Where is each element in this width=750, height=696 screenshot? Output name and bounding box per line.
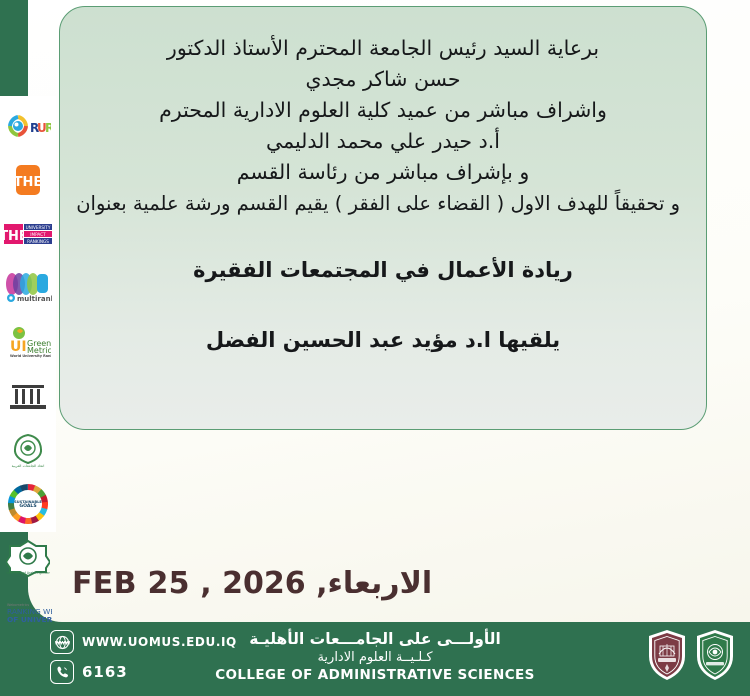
university-crest-green-icon — [694, 628, 736, 686]
svg-text:R: R — [45, 121, 51, 135]
the-university-impact-rankings-logo: THE UNIVERSITY IMPACT RANKINGS — [4, 208, 52, 260]
svg-text:Federation of Arab Engineers: Federation of Arab Engineers — [6, 571, 50, 575]
event-date: الاربعاء, 2026 , FEB 25 — [72, 566, 432, 601]
accreditation-logo-rail: R U R THE THE UNIVERSITY IMPACT RANKINGS — [0, 96, 56, 532]
svg-text:RANKINGS: RANKINGS — [27, 239, 49, 244]
footer-college-english: COLLEGE OF ADMINISTRATIVE SCIENCES — [0, 666, 750, 684]
announcement-card: برعاية السيد رئيس الجامعة المحترم الأستا… — [59, 6, 707, 430]
announcement-body: برعاية السيد رئيس الجامعة المحترم الأستا… — [60, 7, 706, 355]
federation-of-arab-engineers-logo: Federation of Arab Engineers — [4, 532, 52, 584]
supervision-line-1: واشراف مباشر من عميد كلية العلوم الاداري… — [86, 95, 680, 126]
classical-pillars-logo — [4, 370, 52, 422]
poster-root: برعاية السيد رئيس الجامعة المحترم الأستا… — [0, 0, 750, 696]
svg-text:UNIVERSITY: UNIVERSITY — [26, 225, 51, 230]
rur-ranking-logo: R U R — [4, 100, 52, 152]
footer-crest-block — [646, 628, 736, 686]
footer-identity-block: الأولـــى على الجامـــعات الأهليـة كـلـي… — [0, 630, 750, 684]
svg-text:GOALS: GOALS — [19, 503, 36, 509]
dean-name: أ.د حيدر علي محمد الدليمي — [86, 126, 680, 157]
sdg-goals-wheel-logo: SUSTAINABLE GOALS — [4, 478, 52, 530]
patron-line-1: برعاية السيد رئيس الجامعة المحترم الأستا… — [86, 33, 680, 64]
svg-text:multirank: multirank — [17, 295, 52, 303]
svg-text:World University Rankings: World University Rankings — [10, 354, 51, 358]
svg-text:اتحاد الجامعات العربية: اتحاد الجامعات العربية — [12, 464, 45, 468]
arab-universities-union-logo: اتحاد الجامعات العربية — [4, 424, 52, 476]
goal-line: و تحقيقاً للهدف الاول ( القضاء على الفقر… — [86, 188, 680, 219]
ui-greenmetric-logo: UI Green Metric World University Ranking… — [4, 316, 52, 368]
footer-tagline-arabic: الأولـــى على الجامـــعات الأهليـة — [0, 630, 750, 649]
supervision-line-2: و بإشراف مباشر من رئاسة القسم — [86, 157, 680, 188]
svg-text:THE: THE — [14, 175, 43, 190]
svg-text:OF UNIVERSITIES: OF UNIVERSITIES — [7, 615, 52, 624]
university-crest-maroon-icon — [646, 628, 688, 686]
workshop-title: ريادة الأعمال في المجتمعات الفقيرة — [86, 255, 680, 285]
footer-bar: WWW WWW.UOMUS.EDU.IQ 6163 الأولـــى على … — [0, 622, 750, 696]
svg-text:UI: UI — [10, 339, 27, 355]
the-times-higher-education-logo: THE — [4, 154, 52, 206]
svg-text:IMPACT: IMPACT — [30, 232, 46, 237]
patron-name: حسن شاكر مجدي — [86, 64, 680, 95]
speaker-line: يلقيها ا.د مؤيد عبد الحسين الفضل — [86, 325, 680, 355]
ranking-web-of-universities-logo: Webometrics RANKING WEB OF UNIVERSITIES — [4, 586, 52, 638]
u-multirank-logo: multirank — [4, 262, 52, 314]
footer-college-arabic: كـلـيــة العلوم الادارية — [0, 649, 750, 666]
